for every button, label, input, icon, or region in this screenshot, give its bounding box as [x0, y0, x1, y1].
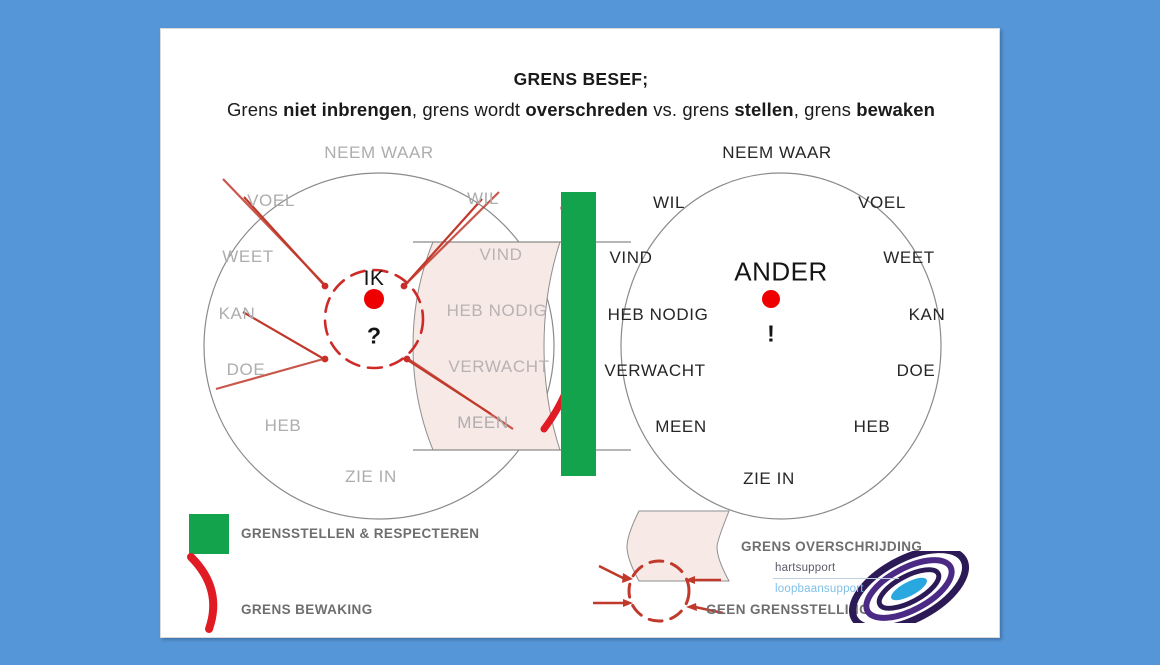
slide-panel: GRENS BESEF; Grens niet inbrengen, grens…	[160, 28, 1000, 638]
legend-crossing-swatch	[627, 511, 729, 581]
logo-line-loopbaansupport: loopbaansupport	[775, 583, 864, 595]
logo: hartsupport loopbaansupport	[769, 551, 987, 623]
logo-divider	[773, 578, 899, 579]
logo-line-hartsupport: hartsupport	[775, 562, 835, 574]
slide-canvas: GRENS BESEF; Grens niet inbrengen, grens…	[0, 0, 1160, 665]
legend-red-arc-swatch	[191, 557, 213, 629]
legend-label-bewaking: GRENS BEWAKING	[241, 602, 373, 617]
legend-green-swatch	[189, 514, 229, 554]
legend-label-grensstellen: GRENSSTELLEN & RESPECTEREN	[241, 526, 479, 541]
